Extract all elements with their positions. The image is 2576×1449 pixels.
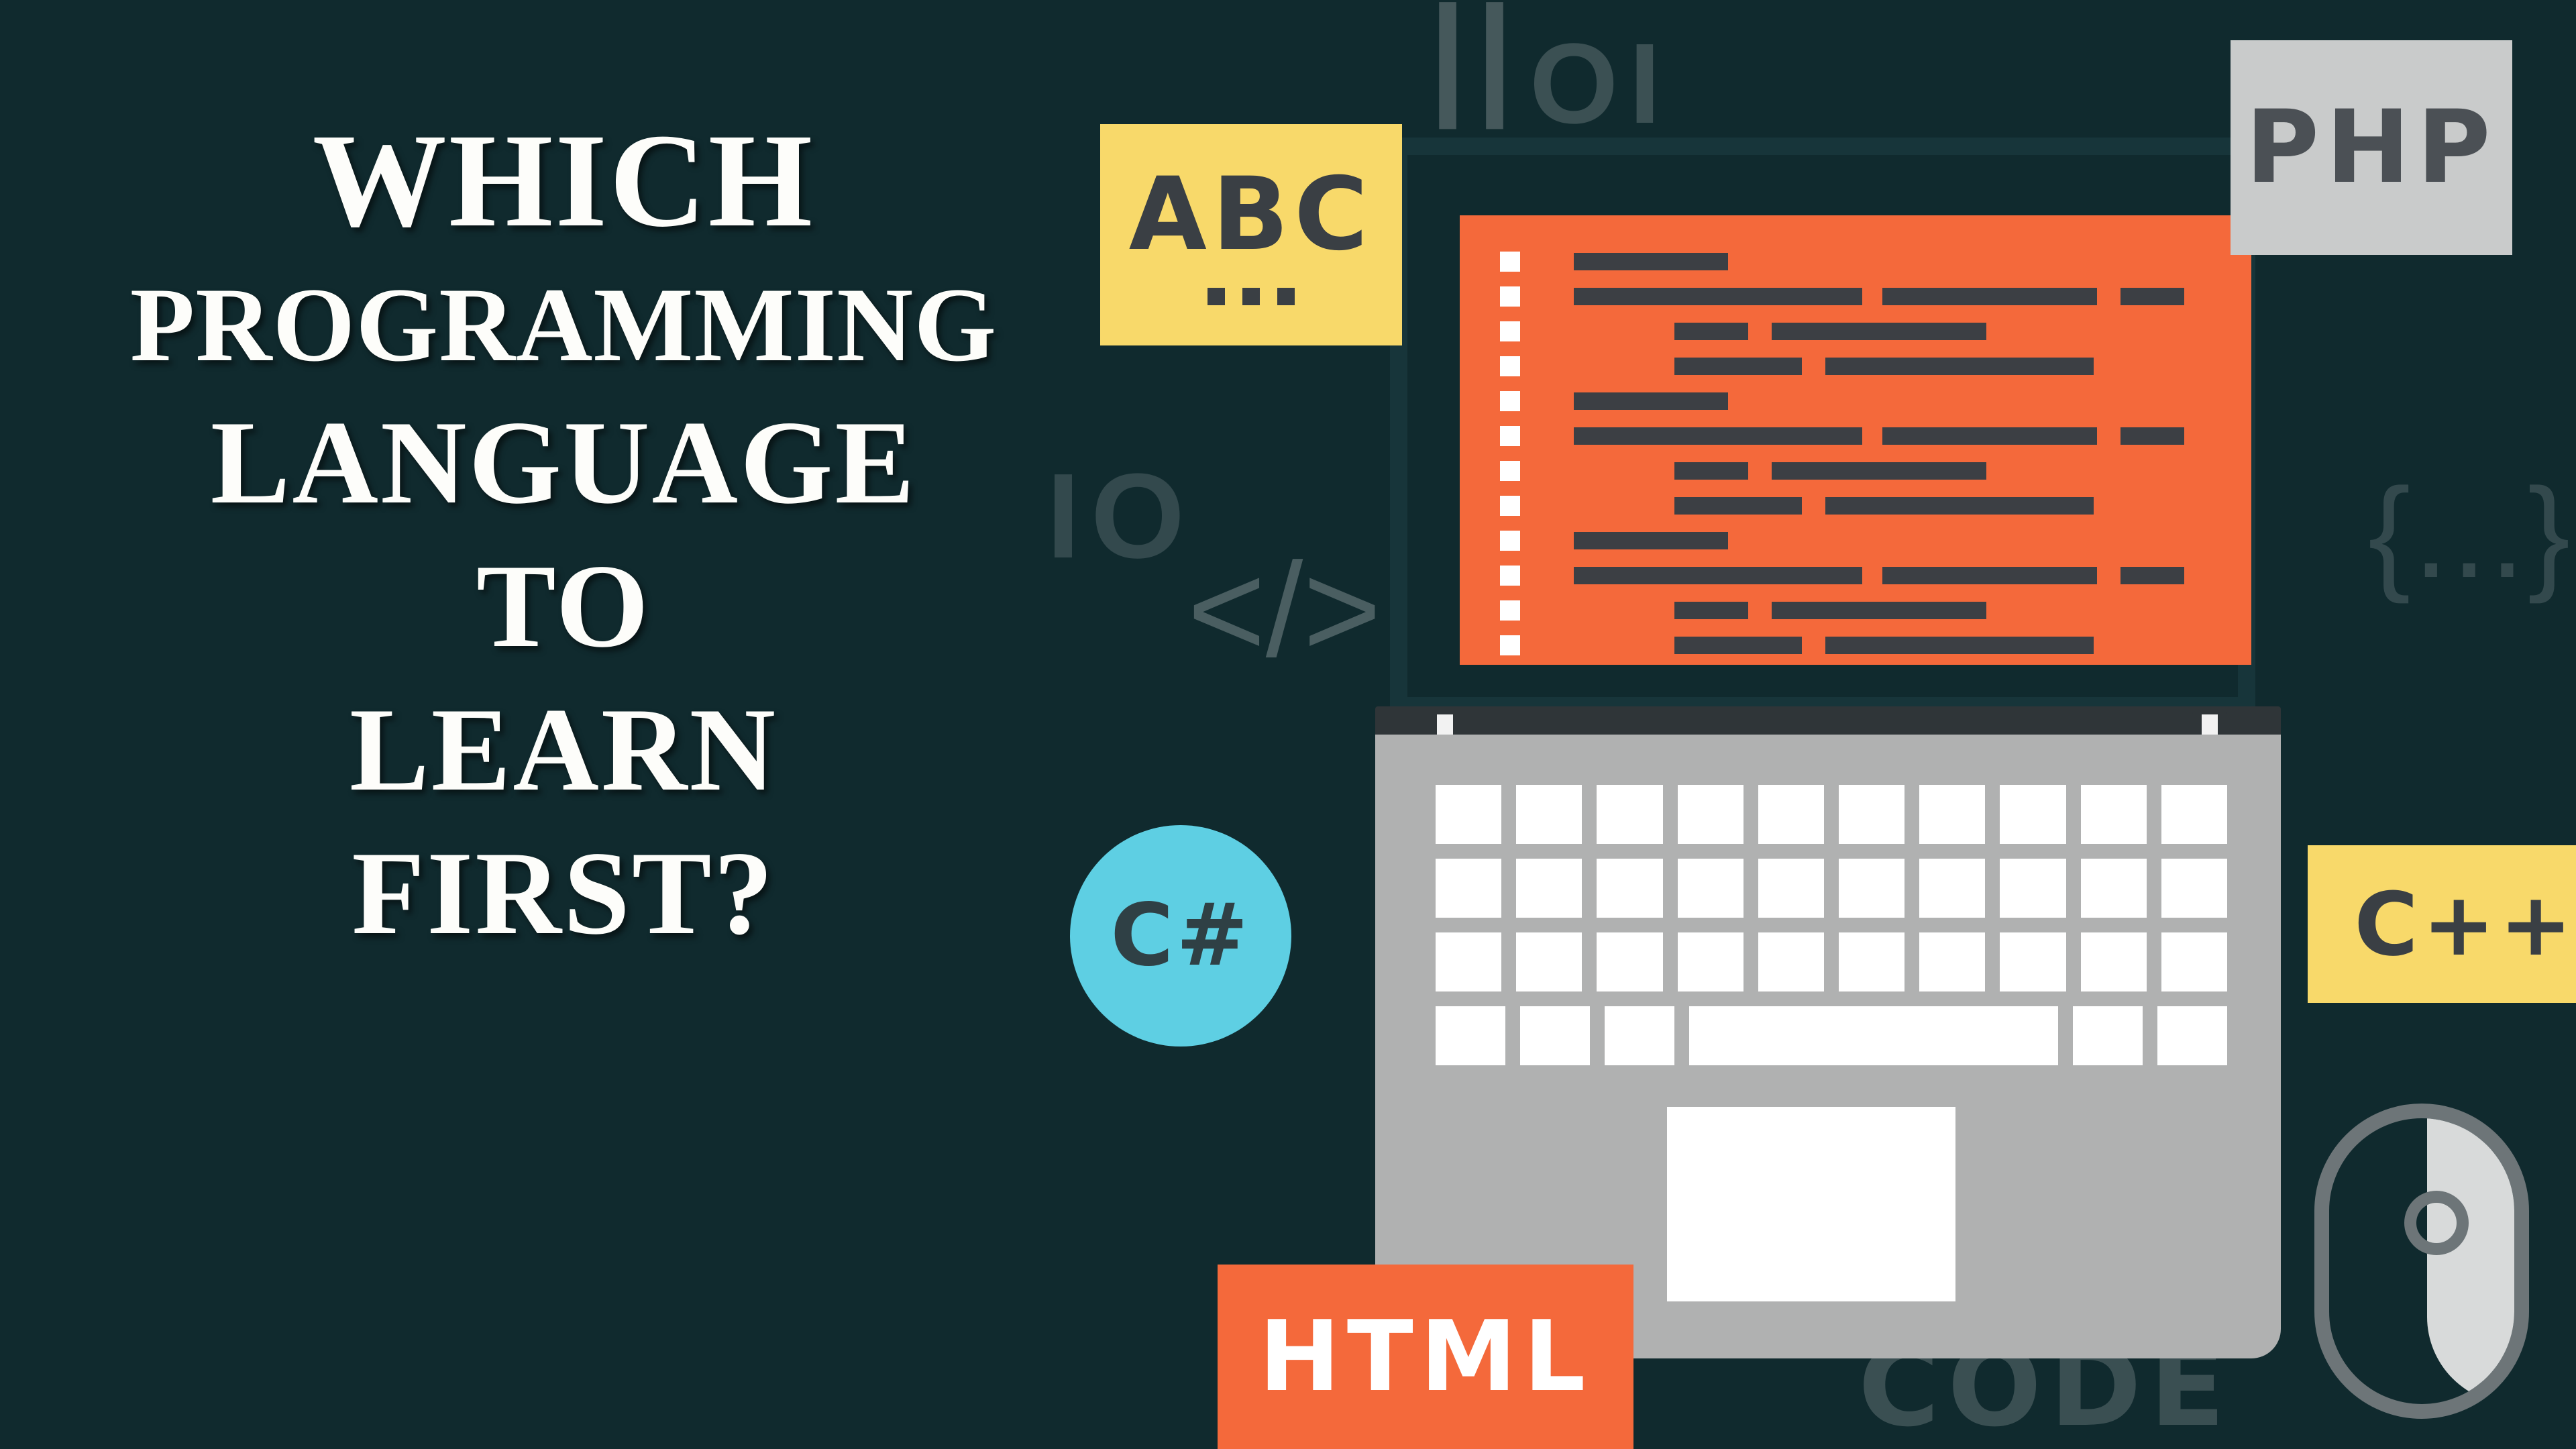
code-line (1460, 596, 2251, 619)
key[interactable] (2161, 932, 2227, 991)
key[interactable] (1597, 785, 1662, 844)
key[interactable] (1516, 932, 1582, 991)
badge-php: PHP (2231, 40, 2512, 255)
key[interactable] (2081, 932, 2147, 991)
key[interactable] (1436, 785, 1501, 844)
binary-pipes-decoration: || (1429, 0, 1523, 121)
code-line-bullet (1500, 531, 1520, 551)
mouse-highlight (2427, 1118, 2514, 1404)
code-segment (2121, 288, 2184, 305)
key[interactable] (2161, 785, 2227, 844)
trackpad (1667, 1107, 1955, 1301)
code-line-bullet (1500, 252, 1520, 272)
code-segment (1574, 288, 1862, 305)
keyboard-row (1436, 932, 2227, 991)
binary-oi-decoration: OI (1529, 27, 1671, 141)
key[interactable] (1678, 785, 1743, 844)
laptop-screen (1460, 215, 2251, 665)
code-segment (1882, 427, 2097, 445)
title-line-2: PROGRAMMING (40, 272, 1087, 378)
key[interactable] (1597, 859, 1662, 918)
code-line (1460, 527, 2251, 549)
code-line-bullet (1500, 391, 1520, 411)
code-segment (1674, 323, 1748, 340)
code-segment (1882, 288, 2097, 305)
code-segment (1574, 532, 1728, 549)
key[interactable] (1758, 932, 1824, 991)
key[interactable] (2081, 859, 2147, 918)
code-segment (1825, 637, 2094, 654)
code-segment (1825, 497, 2094, 515)
badge-abc-dots (1207, 288, 1295, 305)
key[interactable] (1839, 785, 1904, 844)
key[interactable] (2000, 932, 2065, 991)
key[interactable] (2081, 785, 2147, 844)
code-segment (1772, 602, 1986, 619)
code-segment (2121, 427, 2184, 445)
key[interactable] (1520, 1006, 1590, 1065)
code-segment (1574, 567, 1862, 584)
title-line-5: LEARN (40, 690, 1087, 809)
code-line (1460, 422, 2251, 445)
title-line-6: FIRST? (40, 833, 1087, 953)
code-line-bullet (1500, 286, 1520, 307)
key[interactable] (1758, 859, 1824, 918)
key[interactable] (1516, 859, 1582, 918)
code-line (1460, 282, 2251, 305)
code-line (1460, 631, 2251, 654)
code-line-bullet (1500, 635, 1520, 655)
keyboard-row (1436, 785, 2227, 844)
code-line-bullet (1500, 461, 1520, 481)
title-line-4: TO (40, 546, 1087, 665)
key[interactable] (2161, 859, 2227, 918)
code-segment (1574, 253, 1728, 270)
code-line (1460, 317, 2251, 340)
keyboard (1436, 785, 2227, 1080)
badge-abc: ABC (1100, 124, 1402, 345)
keyboard-row (1436, 859, 2227, 918)
key[interactable] (1678, 932, 1743, 991)
mouse-icon (2314, 1104, 2529, 1419)
key[interactable] (1678, 859, 1743, 918)
code-line-bullet (1500, 566, 1520, 586)
code-segment (1574, 427, 1862, 445)
key[interactable] (1919, 785, 1985, 844)
code-line (1460, 457, 2251, 480)
thumbnail-canvas: || OI IO </> {...} CODE WHICH PROGRAMMIN… (0, 0, 2576, 1449)
key[interactable] (1919, 859, 1985, 918)
code-line (1460, 561, 2251, 584)
code-segment (1574, 392, 1728, 410)
code-line-bullet (1500, 356, 1520, 376)
code-segment (1825, 358, 2094, 375)
code-segment (1674, 358, 1802, 375)
code-line (1460, 492, 2251, 515)
key[interactable] (1436, 1006, 1505, 1065)
key[interactable] (1605, 1006, 1674, 1065)
laptop-illustration (1375, 138, 2281, 1358)
key[interactable] (1516, 785, 1582, 844)
key[interactable] (2000, 785, 2065, 844)
key[interactable] (2000, 859, 2065, 918)
keyboard-row (1436, 1006, 2227, 1065)
code-line-bullet (1500, 496, 1520, 516)
key[interactable] (1597, 932, 1662, 991)
page-title: WHICH PROGRAMMING LANGUAGE TO LEARN FIRS… (40, 114, 1087, 953)
code-line-bullet (1500, 426, 1520, 446)
key-space[interactable] (1689, 1006, 2059, 1065)
code-segment (1674, 602, 1748, 619)
laptop-hinge (1375, 706, 2281, 737)
code-line-bullet (1500, 600, 1520, 621)
key[interactable] (1919, 932, 1985, 991)
title-line-1: WHICH (40, 114, 1087, 248)
code-tag-icon: </> (1187, 543, 1381, 678)
key[interactable] (1758, 785, 1824, 844)
badge-cpp: C++ (2308, 845, 2576, 1003)
code-segment (1674, 497, 1802, 515)
badge-csharp: C# (1070, 825, 1291, 1046)
key[interactable] (1839, 859, 1904, 918)
curly-braces-icon: {...} (2368, 470, 2573, 597)
title-line-3: LANGUAGE (40, 402, 1087, 522)
laptop-lid (1390, 138, 2255, 714)
badge-html: HTML (1218, 1265, 1633, 1449)
code-segment (1882, 567, 2097, 584)
code-segment (1674, 637, 1802, 654)
code-line (1460, 352, 2251, 375)
code-segment (1772, 323, 1986, 340)
code-line (1460, 387, 2251, 410)
code-segment (2121, 567, 2184, 584)
key[interactable] (1436, 932, 1501, 991)
code-segment (1772, 462, 1986, 480)
key[interactable] (2073, 1006, 2143, 1065)
mouse-scroll-wheel (2404, 1191, 2469, 1255)
code-segment (1674, 462, 1748, 480)
code-line (1460, 248, 2251, 270)
key[interactable] (1839, 932, 1904, 991)
key[interactable] (2157, 1006, 2227, 1065)
badge-abc-label: ABC (1129, 164, 1374, 265)
code-line-bullet (1500, 321, 1520, 341)
key[interactable] (1436, 859, 1501, 918)
